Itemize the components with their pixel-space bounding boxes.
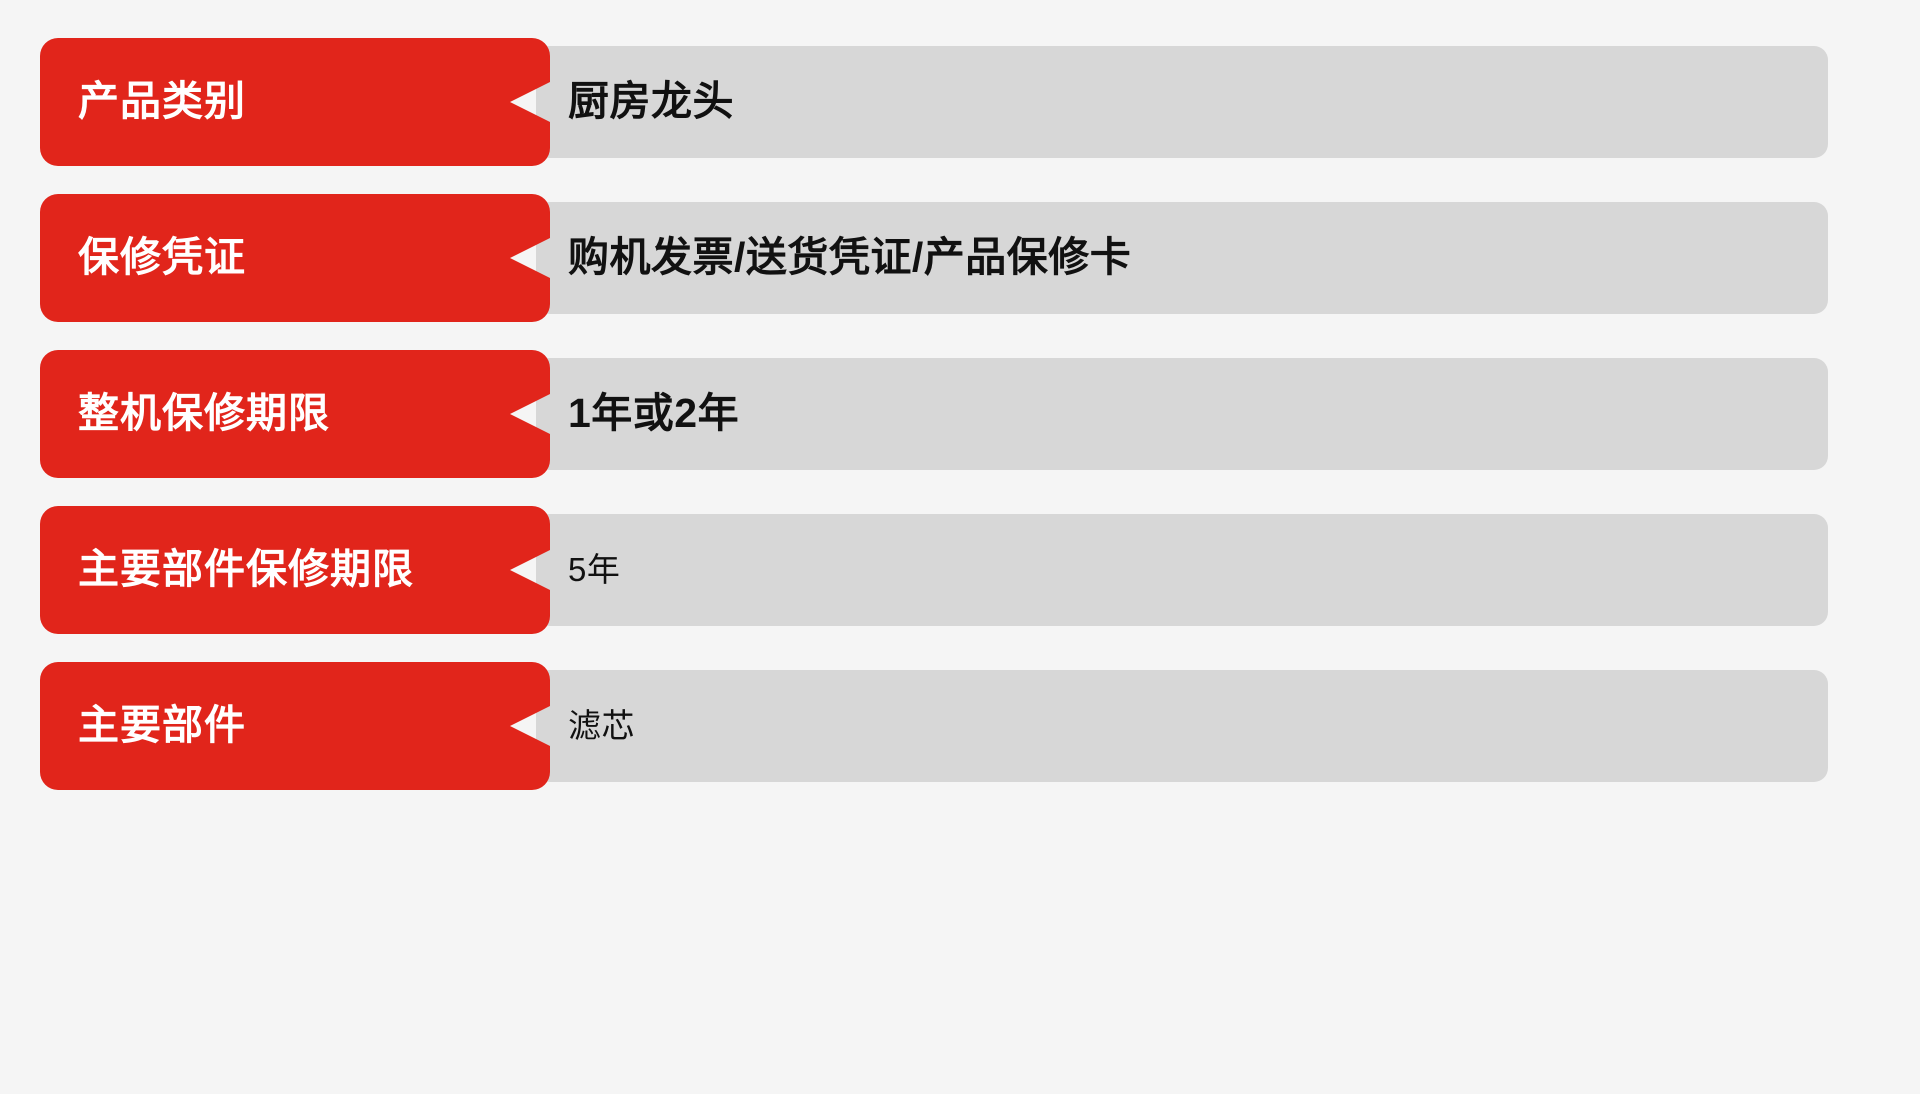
spec-value-text: 购机发票/送货凭证/产品保修卡: [568, 235, 1131, 280]
spec-row: 5年 主要部件保修期限: [0, 506, 1920, 634]
spec-row: 厨房龙头 产品类别: [0, 38, 1920, 166]
spec-label-panel: 保修凭证: [40, 194, 550, 322]
spec-value-panel: 5年: [536, 514, 1828, 626]
spec-value-text: 滤芯: [568, 708, 635, 744]
spec-label-panel: 主要部件保修期限: [40, 506, 550, 634]
spec-value-panel: 购机发票/送货凭证/产品保修卡: [536, 202, 1828, 314]
spec-value-text: 厨房龙头: [568, 79, 734, 124]
spec-label-text: 主要部件保修期限: [78, 547, 414, 592]
spec-label-text: 保修凭证: [78, 235, 246, 280]
spec-row: 滤芯 主要部件: [0, 662, 1920, 790]
spec-label-text: 整机保修期限: [78, 391, 330, 436]
specification-table: 厨房龙头 产品类别 购机发票/送货凭证/产品保修卡 保修凭证 1年或2年 整机保…: [0, 0, 1920, 1094]
spec-label-panel: 整机保修期限: [40, 350, 550, 478]
spec-label-text: 产品类别: [78, 79, 246, 124]
spec-row: 1年或2年 整机保修期限: [0, 350, 1920, 478]
spec-row: 购机发票/送货凭证/产品保修卡 保修凭证: [0, 194, 1920, 322]
spec-value-text: 5年: [568, 552, 620, 588]
spec-value-text: 1年或2年: [568, 391, 739, 436]
spec-label-panel: 主要部件: [40, 662, 550, 790]
spec-label-text: 主要部件: [78, 703, 246, 748]
spec-value-panel: 滤芯: [536, 670, 1828, 782]
spec-label-panel: 产品类别: [40, 38, 550, 166]
spec-value-panel: 1年或2年: [536, 358, 1828, 470]
spec-value-panel: 厨房龙头: [536, 46, 1828, 158]
